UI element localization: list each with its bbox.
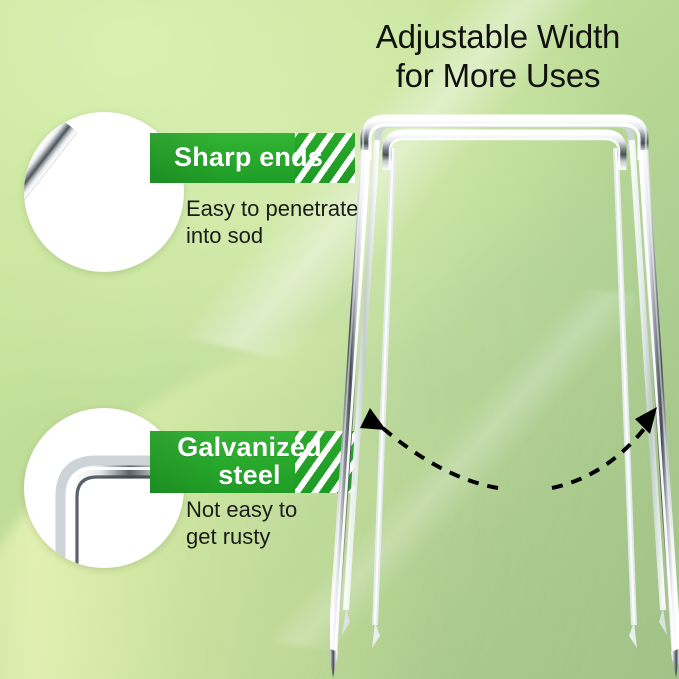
arrow-head-left bbox=[360, 408, 386, 430]
staple-tip-right bbox=[671, 648, 679, 678]
arrow-line-left bbox=[378, 424, 498, 488]
page-title: Adjustable Width for More Uses bbox=[333, 18, 663, 96]
banner-galvanized-steel: Galvanized steel bbox=[150, 431, 355, 493]
banner-sharp-ends: Sharp ends bbox=[150, 133, 355, 183]
arrow-line-right bbox=[552, 424, 648, 488]
rod-shaft bbox=[24, 120, 78, 251]
staple-tip-left bbox=[330, 648, 338, 678]
rod-illustration bbox=[24, 120, 78, 258]
infographic-canvas: Adjustable Width for More Uses Sharp end… bbox=[0, 0, 679, 679]
banner-label: Sharp ends bbox=[150, 144, 323, 172]
arrow-head-right bbox=[635, 407, 657, 434]
banner-label: Galvanized steel bbox=[150, 434, 335, 489]
adjustable-width-arrows bbox=[330, 380, 679, 500]
